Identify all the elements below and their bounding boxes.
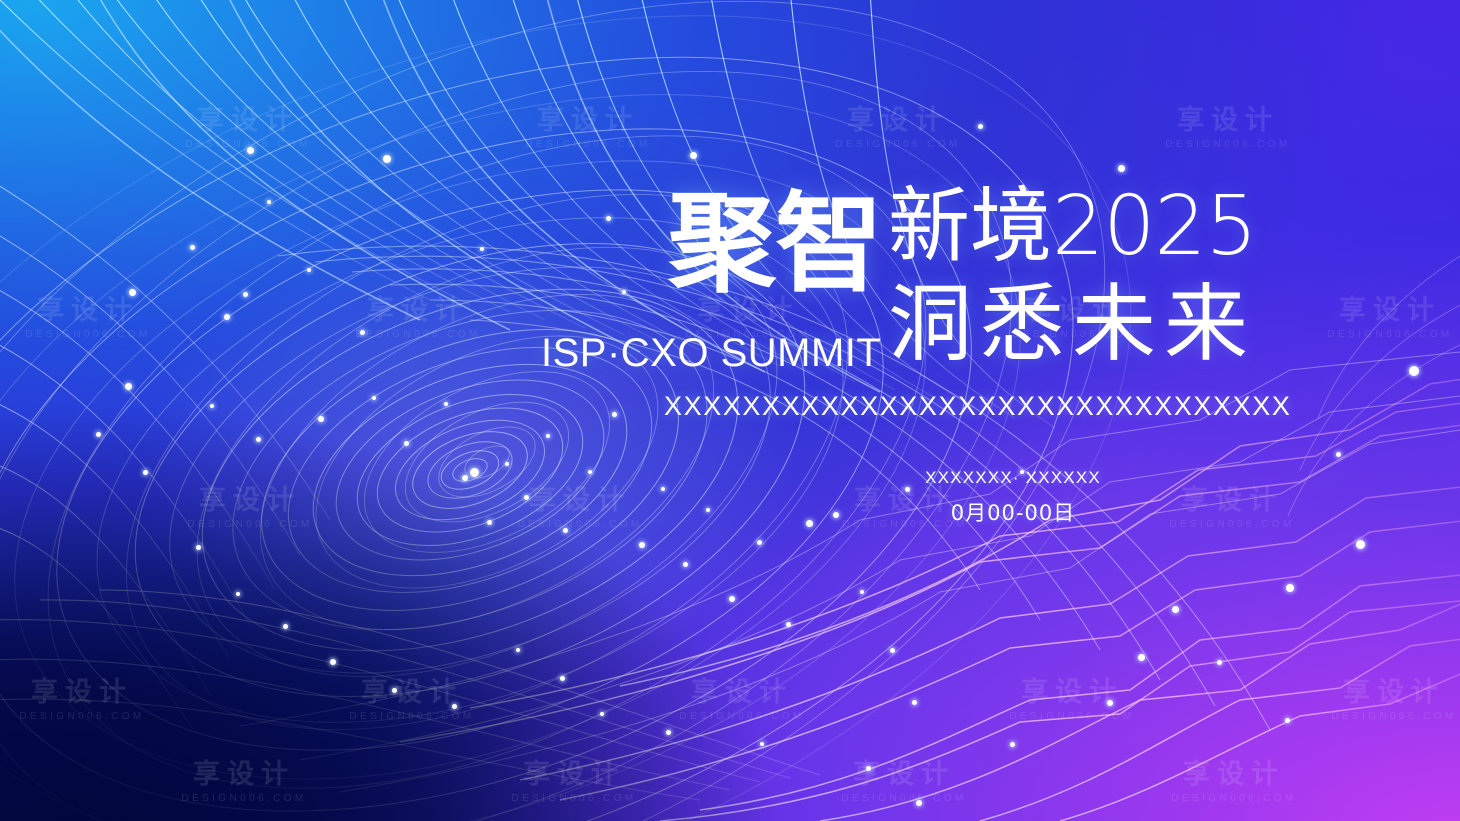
poster-canvas: 享设计 DESIGN006.COM 享设计 DESIGN006.COM 享设计 …	[0, 0, 1460, 821]
headline-right-column: 新境2025 洞悉未来	[888, 186, 1257, 366]
main-title: 聚智	[668, 190, 882, 300]
event-location: XXXXXXX· XXXXXX	[925, 468, 1101, 488]
poster-text-block: 聚智 新境2025 洞悉未来 ISP·CXO SUMMIT XXXXXXXXXX…	[0, 0, 1460, 821]
event-date: 0月00-00日	[925, 497, 1101, 527]
headline-line-a: 新境2025	[888, 186, 1257, 268]
headline-line-a-cn: 新境	[888, 179, 1052, 274]
subtitle-english: ISP·CXO SUMMIT	[541, 331, 881, 376]
event-meta: XXXXXXX· XXXXXX 0月00-00日	[925, 468, 1101, 527]
headline-year: 2025	[1052, 179, 1257, 274]
placeholder-text-line: XXXXXXXXXXXXXXXXXXXXXXXXXXXXXXXX	[664, 391, 1291, 422]
headline-line-b: 洞悉未来	[888, 282, 1257, 366]
